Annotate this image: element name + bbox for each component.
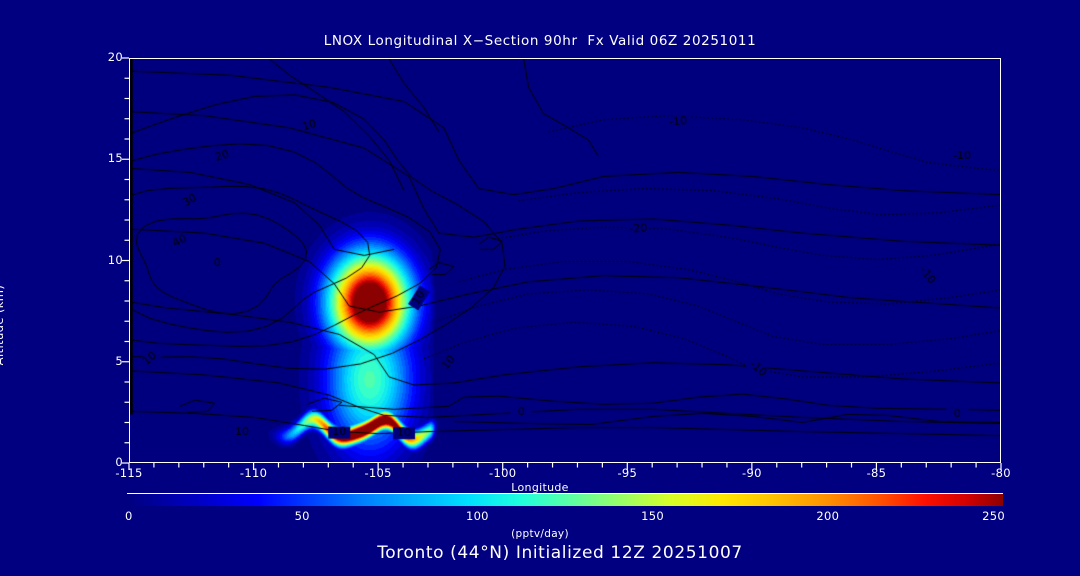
y-tick-label: 5 <box>83 354 123 368</box>
colorbar <box>127 493 1003 506</box>
x-tick-label: -100 <box>473 466 533 480</box>
x-tick-label: -80 <box>971 466 1031 480</box>
page-title: LNOX Longitudinal X−Section 90hr Fx Vali… <box>0 33 1080 49</box>
plot-page: LNOX Longitudinal X−Section 90hr Fx Vali… <box>0 0 1080 576</box>
x-tick-label: -95 <box>597 466 657 480</box>
footer-caption: Toronto (44°N) Initialized 12Z 20251007 <box>0 543 1080 563</box>
colorbar-gradient <box>127 493 1003 506</box>
colorbar-tick-label: 0 <box>125 509 165 523</box>
x-tick-label: -105 <box>348 466 408 480</box>
heatmap-canvas <box>130 59 1001 463</box>
colorbar-tick-labels: 050100150200250 <box>0 509 1080 525</box>
colorbar-tick-label: 50 <box>267 509 337 523</box>
y-axis-label: Altitude (km) <box>0 225 6 425</box>
colorbar-tick-label: 250 <box>965 509 1005 523</box>
y-tick-label: 10 <box>83 253 123 267</box>
y-tick-label: 20 <box>83 50 123 64</box>
x-tick-label: -85 <box>846 466 906 480</box>
colorbar-tick-label: 150 <box>618 509 688 523</box>
colorbar-unit-label: (pptv/day) <box>0 528 1080 540</box>
y-tick-label: 15 <box>83 151 123 165</box>
x-tick-label: -90 <box>722 466 782 480</box>
colorbar-tick-label: 200 <box>793 509 863 523</box>
colorbar-tick-label: 100 <box>442 509 512 523</box>
x-tick-label: -115 <box>99 466 159 480</box>
x-tick-label: -110 <box>224 466 284 480</box>
plot-area <box>129 58 1001 463</box>
